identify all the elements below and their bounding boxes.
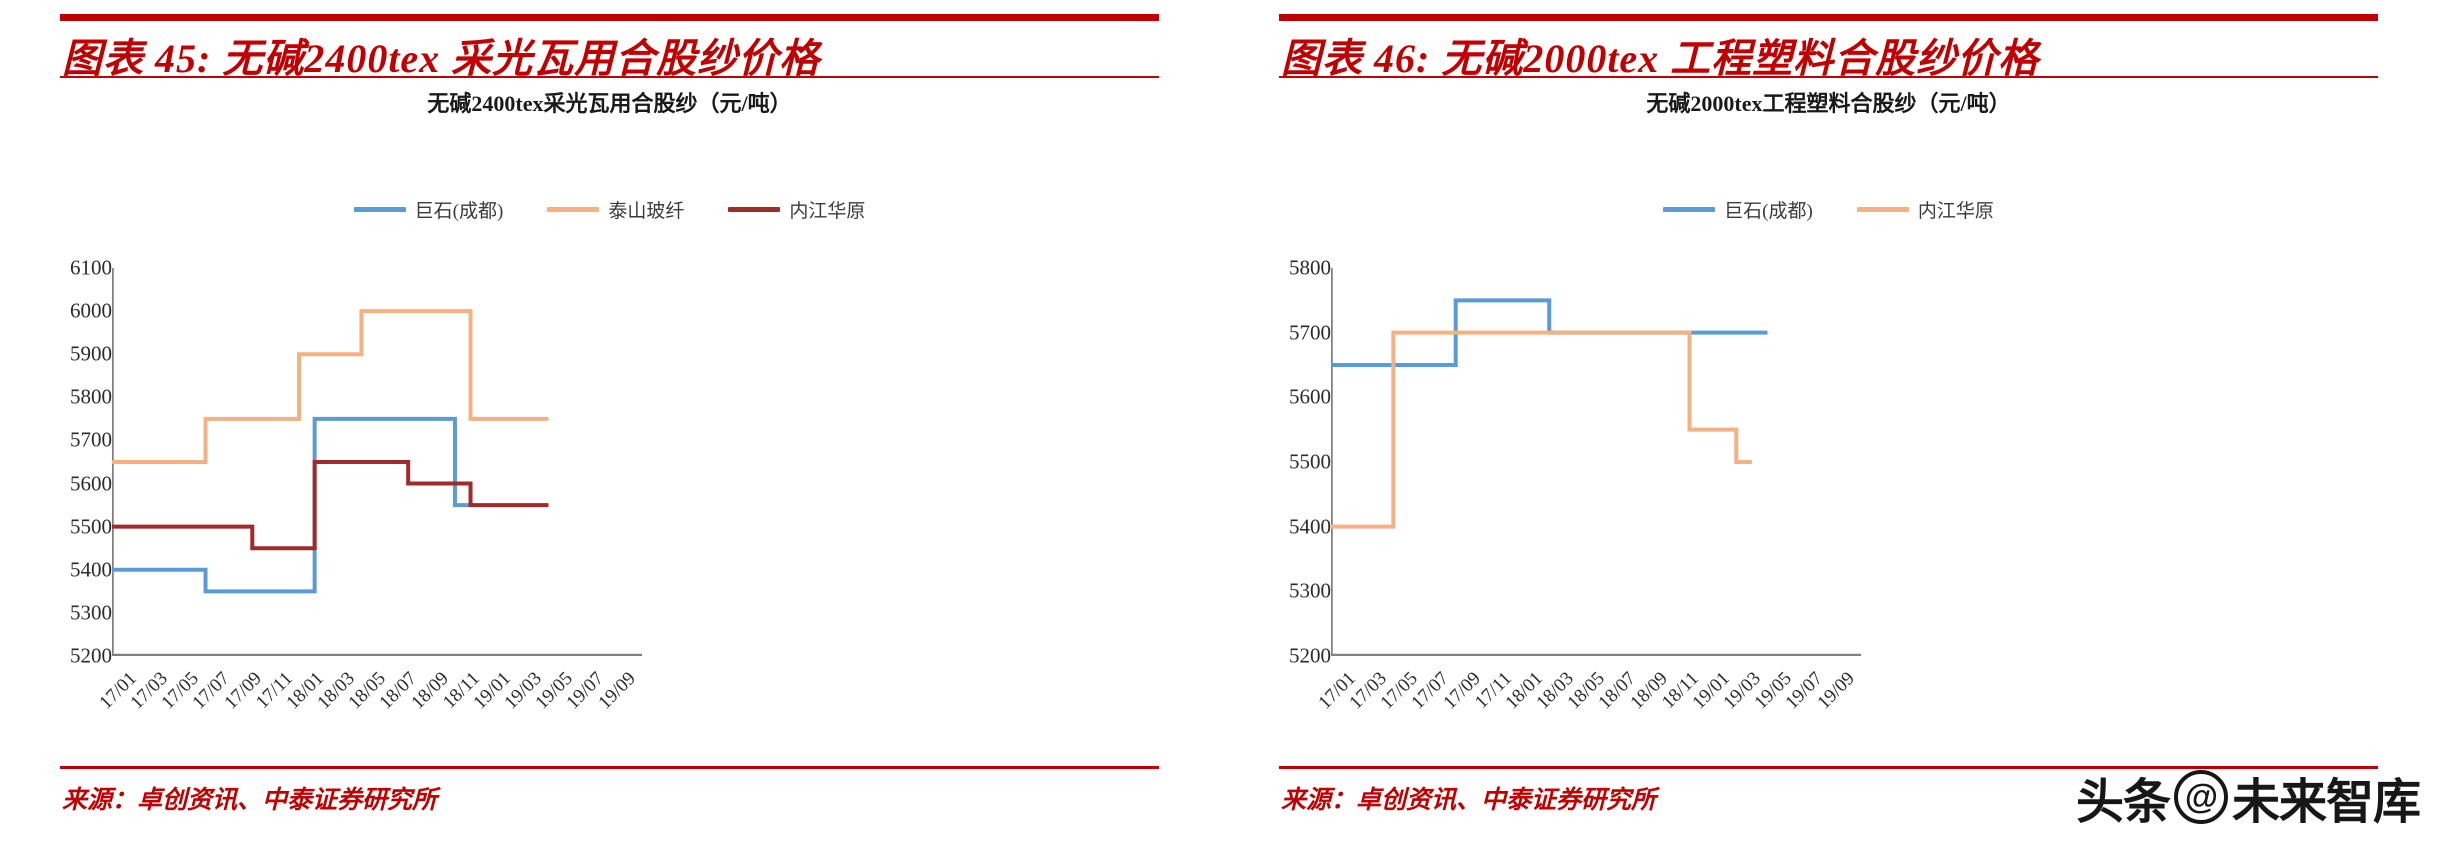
legend-swatch-icon — [1857, 207, 1909, 212]
at-sign-icon: @ — [2174, 770, 2228, 824]
chart-legend-45: 巨石(成都) 泰山玻纤 内江华原 — [0, 196, 1219, 223]
panel-top-rule — [1279, 14, 2378, 21]
chart-title-45: 无碱2400tex采光瓦用合股纱（元/吨） — [0, 86, 1219, 118]
chart-legend-46: 巨石(成都) 内江华原 — [1219, 196, 2438, 223]
y-axis-tick-label: 5500 — [70, 514, 112, 539]
page-root: 图表 45: 无碱2400tex 采光瓦用合股纱价格 无碱2400tex采光瓦用… — [0, 0, 2438, 856]
y-axis-tick-labels-46: 5800570056005500540053005200 — [1259, 0, 1331, 856]
legend-label: 内江华原 — [1918, 196, 1994, 223]
chart-title-46: 无碱2000tex工程塑料合股纱（元/吨） — [1219, 86, 2438, 118]
y-axis-tick-label: 6000 — [70, 299, 112, 324]
panel-top-rule — [60, 14, 1159, 21]
panel-underline-rule — [1279, 76, 2378, 78]
y-axis-tick-label: 5500 — [1289, 450, 1331, 475]
legend-item-taishan[interactable]: 泰山玻纤 — [547, 196, 684, 223]
y-axis-tick-label: 5200 — [70, 644, 112, 669]
y-axis-tick-label: 5400 — [1289, 514, 1331, 539]
y-axis-tick-label: 5700 — [70, 428, 112, 453]
y-axis-tick-label: 5700 — [1289, 320, 1331, 345]
legend-item-neijiang[interactable]: 内江华原 — [728, 196, 865, 223]
y-axis-tick-label: 5900 — [70, 342, 112, 367]
chart-plot-area-46 — [1331, 268, 1861, 656]
y-axis-tick-label: 5300 — [70, 600, 112, 625]
panel-underline-rule — [60, 76, 1159, 78]
y-axis-tick-label: 5600 — [70, 471, 112, 496]
y-axis-tick-label: 5800 — [1289, 256, 1331, 281]
legend-item-juShi[interactable]: 巨石(成都) — [354, 196, 504, 223]
watermark: 头条 @ 未来智库 — [2076, 762, 2420, 832]
legend-label: 内江华原 — [789, 196, 865, 223]
source-note-46: 来源：卓创资讯、中泰证券研究所 — [1281, 780, 1656, 816]
watermark-right-text: 未来智库 — [2232, 762, 2420, 832]
x-axis-tick-labels-45: 17/0117/0317/0517/0717/0917/1118/0118/03… — [112, 662, 642, 742]
panel-bottom-rule — [60, 766, 1159, 769]
x-axis-tick-labels-46: 17/0117/0317/0517/0717/0917/1118/0118/03… — [1331, 662, 1861, 742]
y-axis-tick-label: 5400 — [70, 557, 112, 582]
chart-plot-area-45 — [112, 268, 642, 656]
legend-swatch-icon — [354, 207, 406, 212]
y-axis-tick-label: 5300 — [1289, 579, 1331, 604]
figure-panel-45: 图表 45: 无碱2400tex 采光瓦用合股纱价格 无碱2400tex采光瓦用… — [0, 0, 1219, 856]
legend-item-juShi[interactable]: 巨石(成都) — [1663, 196, 1813, 223]
y-axis-tick-label: 5600 — [1289, 385, 1331, 410]
y-axis-tick-labels-45: 6100600059005800570056005500540053005200 — [40, 0, 112, 856]
y-axis-tick-label: 5800 — [70, 385, 112, 410]
y-axis-tick-label: 5200 — [1289, 644, 1331, 669]
legend-swatch-icon — [728, 207, 780, 212]
legend-swatch-icon — [547, 207, 599, 212]
figure-panel-46: 图表 46: 无碱2000tex 工程塑料合股纱价格 无碱2000tex工程塑料… — [1219, 0, 2438, 856]
watermark-left-text: 头条 — [2076, 762, 2170, 832]
legend-label: 巨石(成都) — [415, 196, 504, 223]
legend-swatch-icon — [1663, 207, 1715, 212]
source-note-45: 来源：卓创资讯、中泰证券研究所 — [62, 780, 437, 816]
y-axis-tick-label: 6100 — [70, 256, 112, 281]
legend-item-neijiang[interactable]: 内江华原 — [1857, 196, 1994, 223]
legend-label: 泰山玻纤 — [608, 196, 684, 223]
legend-label: 巨石(成都) — [1724, 196, 1813, 223]
